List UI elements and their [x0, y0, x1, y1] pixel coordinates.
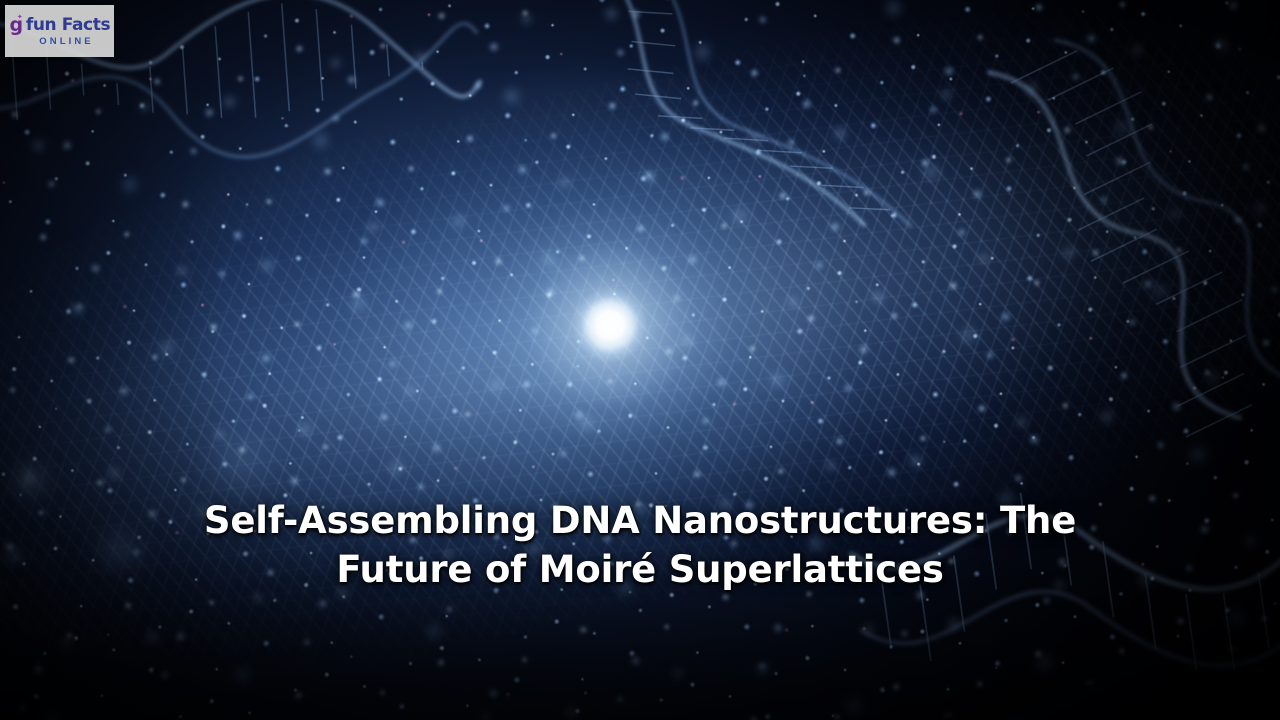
- logo-tagline: ONLINE: [25, 37, 94, 47]
- logo-g-mark: ✦ g: [9, 16, 24, 35]
- vignette-overlay: [0, 0, 1280, 720]
- sprout-icon: ✦: [17, 15, 23, 20]
- hero-banner: ✦ g fun Facts ONLINE Self-Assembling DNA…: [0, 0, 1280, 720]
- hero-title-line-1: Self-Assembling DNA Nanostructures: The: [90, 496, 1190, 545]
- logo-wordmark-text: fun Facts: [26, 17, 110, 34]
- hero-title-block: Self-Assembling DNA Nanostructures: The …: [0, 496, 1280, 594]
- hero-title-line-2: Future of Moiré Superlattices: [90, 545, 1190, 594]
- site-logo-badge[interactable]: ✦ g fun Facts ONLINE: [5, 5, 114, 57]
- logo-wordmark-row: ✦ g fun Facts: [9, 16, 110, 35]
